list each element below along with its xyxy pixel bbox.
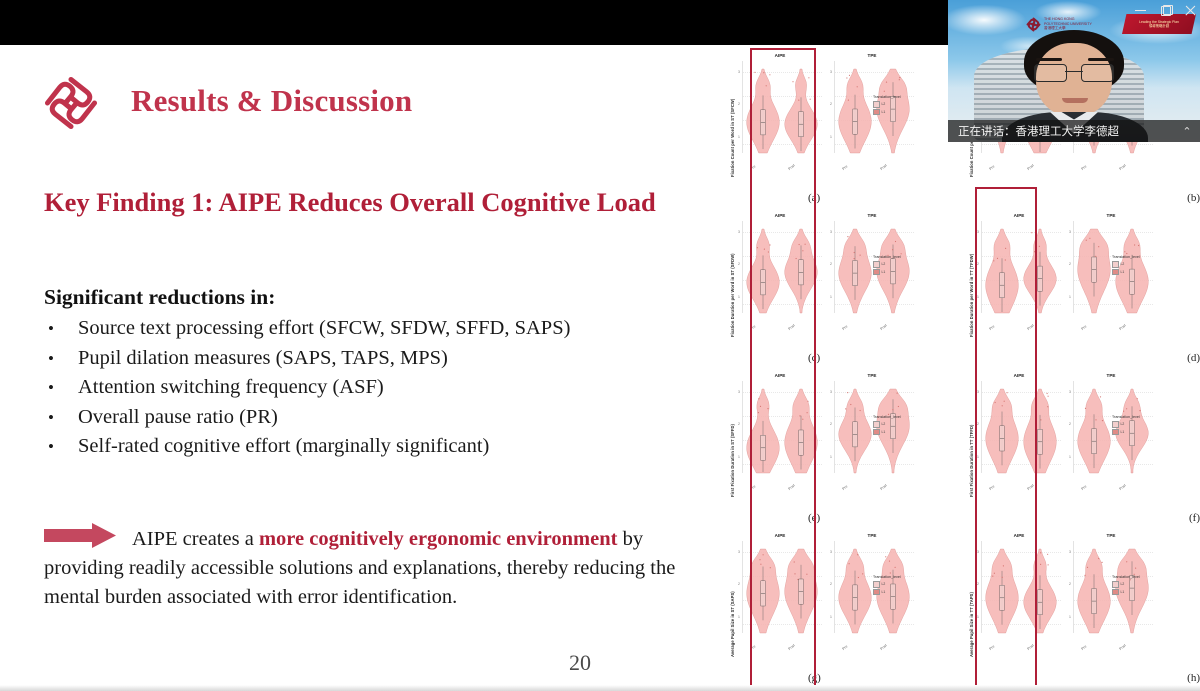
facet-title: AIPE [736, 53, 824, 58]
violin-shape [985, 229, 1019, 313]
legend-item: L1 [873, 269, 913, 276]
subfigure-label: (f) [961, 512, 1200, 524]
y-axis-tick: 1 [830, 615, 832, 619]
legend-swatch [1112, 269, 1119, 276]
y-axis-tick: 3 [977, 550, 979, 554]
x-axis-tick: Pre [1081, 324, 1088, 331]
active-speaker-bar[interactable]: 正在讲话：香港理工大学李德超 ⌃ [948, 120, 1200, 142]
legend-swatch [1112, 261, 1119, 268]
x-axis-tick: Pre [842, 484, 849, 491]
facet-aipe: AIPE321 Pre Post [975, 371, 1063, 495]
x-axis-tick: Pre [750, 164, 757, 171]
list-item: • Overall pause ratio (PR) [44, 403, 734, 433]
legend-swatch [1112, 581, 1119, 588]
y-axis-tick: 3 [738, 550, 740, 554]
y-axis-tick: 3 [830, 550, 832, 554]
plot-area: AIPE321 Pre PostTPE321 Pre PostTranslati… [736, 211, 916, 335]
legend-label: L2 [1121, 422, 1125, 426]
list-item-label: Self-rated cognitive effort (marginally … [78, 432, 734, 462]
violin-shape [838, 549, 872, 633]
legend-label: L1 [1121, 590, 1125, 594]
x-axis-tick: Post [880, 323, 888, 331]
y-axis-tick: 3 [738, 390, 740, 394]
legend-title: Translation_level [873, 575, 913, 579]
y-axis-tick: 1 [738, 135, 740, 139]
x-axis-tick: Post [1027, 323, 1035, 331]
y-axis-tick: 1 [1069, 295, 1071, 299]
x-axis-tick: Pre [989, 164, 996, 171]
legend-title: Translation_level [873, 415, 913, 419]
y-axis-tick: 3 [977, 230, 979, 234]
bullet-marker-icon: • [44, 406, 78, 430]
y-axis-tick: 2 [830, 422, 832, 426]
legend-title: Translation_level [1112, 575, 1152, 579]
legend-swatch [873, 269, 880, 276]
x-axis-tick: Post [880, 483, 888, 491]
violin-shape [784, 229, 818, 313]
violin-panel: Fixation Count per Word in ST (SFCW)AIPE… [722, 45, 961, 205]
violin-shape [838, 389, 872, 473]
x-axis-tick: Pre [750, 644, 757, 651]
violin-shape [838, 69, 872, 153]
x-axis-tick: Post [880, 163, 888, 171]
y-axis-tick: 3 [830, 70, 832, 74]
bullet-marker-icon: • [44, 347, 78, 371]
violin-shape [1023, 549, 1057, 633]
avatar-brow-left [1036, 58, 1062, 61]
y-axis-tick: 1 [977, 455, 979, 459]
facet-title: TPE [828, 373, 916, 378]
chart-legend: Translation_levelL2L1 [1112, 255, 1152, 276]
y-axis-tick: 2 [830, 582, 832, 586]
letterbox-bottom-bar [0, 685, 1200, 691]
chart-legend: Translation_levelL2L1 [873, 255, 913, 276]
y-axis-tick: 1 [977, 615, 979, 619]
chart-legend: Translation_levelL2L1 [1112, 415, 1152, 436]
bullet-marker-icon: • [44, 317, 78, 341]
y-axis-tick: 1 [738, 455, 740, 459]
x-axis-tick: Pre [989, 484, 996, 491]
y-axis-tick: 2 [1069, 422, 1071, 426]
polyu-knot-logo [42, 75, 100, 131]
legend-item: L2 [1112, 421, 1152, 428]
violin-shape [1077, 229, 1111, 313]
y-axis-label: Fixation Duration per Word in ST (SFDW) [730, 219, 735, 337]
y-axis-tick: 2 [738, 582, 740, 586]
legend-item: L2 [873, 421, 913, 428]
violin-shape [746, 69, 780, 153]
chart-legend: Translation_levelL2L1 [873, 95, 913, 116]
legend-swatch [1112, 429, 1119, 436]
x-axis-tick: Post [1119, 163, 1127, 171]
violin-shape [1023, 389, 1057, 473]
legend-item: L1 [873, 429, 913, 436]
y-axis-tick: 3 [830, 230, 832, 234]
restore-icon[interactable] [1160, 5, 1171, 16]
facet-aipe: AIPE321 Pre Post [736, 51, 824, 175]
video-participant-tile[interactable]: THE HONG KONGPOLYTECHNIC UNIVERSITY香港理工大… [948, 0, 1200, 142]
avatar-lens-left [1034, 64, 1067, 82]
legend-title: Translation_level [1112, 255, 1152, 259]
legend-title: Translation_level [1112, 415, 1152, 419]
x-axis-tick: Pre [1081, 484, 1088, 491]
plot-area: AIPE321 Pre PostTPE321 Pre PostTranslati… [975, 531, 1155, 655]
facet-aipe: AIPE321 Pre Post [736, 531, 824, 655]
conclusion-part-1: AIPE creates a [132, 528, 259, 550]
x-axis-tick: Pre [989, 644, 996, 651]
y-axis-tick: 2 [738, 262, 740, 266]
facet-title: AIPE [736, 373, 824, 378]
page-title: Results & Discussion [131, 83, 412, 119]
facet-title: AIPE [736, 533, 824, 538]
list-item-label: Overall pause ratio (PR) [78, 403, 734, 433]
subfigure-label: (d) [961, 352, 1200, 364]
y-axis-tick: 3 [1069, 550, 1071, 554]
legend-label: L1 [882, 590, 886, 594]
legend-label: L2 [882, 102, 886, 106]
facet-title: AIPE [975, 373, 1063, 378]
legend-swatch [873, 429, 880, 436]
violin-shape [985, 549, 1019, 633]
y-axis-tick: 1 [1069, 455, 1071, 459]
conclusion-paragraph: AIPE creates a more cognitively ergonomi… [44, 523, 724, 612]
y-axis-label: Fixation Count per Word in ST (SFCW) [730, 59, 735, 177]
y-axis-label: Average Pupil Size in TT (TAPS) [969, 539, 974, 657]
legend-label: L1 [1121, 270, 1125, 274]
red-right-arrow-icon [44, 523, 116, 548]
violin-panel: Average Pupil Size in ST (SAPS)AIPE321 P… [722, 525, 961, 685]
list-item-label: Attention switching frequency (ASF) [78, 373, 734, 403]
x-axis-tick: Post [1027, 163, 1035, 171]
y-axis-tick: 1 [977, 295, 979, 299]
facet-aipe: AIPE321 Pre Post [736, 371, 824, 495]
chevron-up-icon[interactable]: ⌃ [1174, 125, 1200, 138]
violin-panel: Fixation Duration per Word in ST (SFDW)A… [722, 205, 961, 365]
list-item: • Pupil dilation measures (SAPS, TAPS, M… [44, 344, 734, 374]
facet-title: TPE [1067, 533, 1155, 538]
legend-label: L2 [1121, 582, 1125, 586]
legend-item: L2 [873, 261, 913, 268]
legend-label: L1 [1121, 430, 1125, 434]
y-axis-tick: 1 [830, 135, 832, 139]
y-axis-tick: 2 [977, 422, 979, 426]
violin-shape [746, 389, 780, 473]
plot-area: AIPE321 Pre PostTPE321 Pre PostTranslati… [736, 371, 916, 495]
legend-item: L2 [1112, 581, 1152, 588]
x-axis-tick: Post [1027, 483, 1035, 491]
x-axis-tick: Pre [842, 324, 849, 331]
y-axis-tick: 3 [977, 390, 979, 394]
facet-aipe: AIPE321 Pre Post [975, 531, 1063, 655]
legend-label: L1 [882, 110, 886, 114]
window-controls[interactable] [1135, 2, 1196, 18]
facet-title: AIPE [975, 213, 1063, 218]
y-axis-label: Fixation Duration per Word in TT (TFDW) [969, 219, 974, 337]
plot-area: AIPE321 Pre PostTPE321 Pre PostTranslati… [975, 371, 1155, 495]
legend-item: L2 [873, 581, 913, 588]
conclusion-highlight: more cognitively ergonomic environment [259, 528, 618, 550]
x-axis-tick: Pre [1081, 644, 1088, 651]
x-axis-tick: Post [1119, 323, 1127, 331]
avatar-glasses [1034, 64, 1114, 80]
facet-title: TPE [828, 533, 916, 538]
x-axis-tick: Post [788, 163, 796, 171]
plot-area: AIPE321 Pre PostTPE321 Pre PostTranslati… [736, 531, 916, 655]
legend-swatch [1112, 421, 1119, 428]
list-item: • Source text processing effort (SFCW, S… [44, 314, 734, 344]
legend-label: L2 [882, 582, 886, 586]
violin-shape [746, 549, 780, 633]
y-axis-tick: 1 [830, 295, 832, 299]
y-axis-tick: 1 [738, 615, 740, 619]
legend-item: L1 [873, 589, 913, 596]
facet-title: TPE [1067, 213, 1155, 218]
y-axis-tick: 3 [738, 230, 740, 234]
violin-shape [784, 549, 818, 633]
x-axis-tick: Post [1027, 643, 1035, 651]
x-axis-tick: Post [788, 323, 796, 331]
y-axis-label: First Fixation Duration in TT (TFFD) [969, 379, 974, 497]
legend-label: L2 [882, 422, 886, 426]
violin-panel: First Fixation Duration in ST (SFFD)AIPE… [722, 365, 961, 525]
legend-item: L1 [1112, 269, 1152, 276]
lead-in-text: Significant reductions in: [44, 285, 734, 310]
subfigure-label: (h) [961, 672, 1200, 684]
y-axis-tick: 2 [1069, 582, 1071, 586]
bullet-marker-icon: • [44, 435, 78, 459]
facet-title: TPE [828, 53, 916, 58]
key-finding-heading: Key Finding 1: AIPE Reduces Overall Cogn… [44, 187, 656, 218]
chart-legend: Translation_levelL2L1 [873, 575, 913, 596]
facet-title: AIPE [975, 533, 1063, 538]
chart-legend: Translation_levelL2L1 [1112, 575, 1152, 596]
legend-title: Translation_level [873, 255, 913, 259]
x-axis-tick: Post [880, 643, 888, 651]
x-axis-tick: Pre [1081, 164, 1088, 171]
y-axis-tick: 2 [977, 262, 979, 266]
y-axis-tick: 1 [738, 295, 740, 299]
violin-shape [985, 389, 1019, 473]
legend-label: L2 [882, 262, 886, 266]
list-item: • Attention switching frequency (ASF) [44, 373, 734, 403]
violin-panel: Average Pupil Size in TT (TAPS)AIPE321 P… [961, 525, 1200, 685]
legend-swatch [873, 581, 880, 588]
facet-title: TPE [828, 213, 916, 218]
x-axis-tick: Post [788, 483, 796, 491]
bullet-marker-icon: • [44, 376, 78, 400]
x-axis-tick: Pre [989, 324, 996, 331]
legend-item: L1 [1112, 429, 1152, 436]
y-axis-tick: 2 [830, 262, 832, 266]
violin-shape [1077, 389, 1111, 473]
plot-area: AIPE321 Pre PostTPE321 Pre PostTranslati… [736, 51, 916, 175]
x-axis-tick: Post [788, 643, 796, 651]
facet-title: AIPE [736, 213, 824, 218]
violin-shape [746, 229, 780, 313]
violin-shape [1023, 229, 1057, 313]
violin-shape [838, 229, 872, 313]
active-speaker-label: 正在讲话：香港理工大学李德超 [948, 123, 1174, 139]
y-axis-tick: 2 [830, 102, 832, 106]
avatar-mouth [1062, 98, 1088, 103]
plot-area: AIPE321 Pre PostTPE321 Pre PostTranslati… [975, 211, 1155, 335]
x-axis-tick: Post [1119, 483, 1127, 491]
chart-legend: Translation_levelL2L1 [873, 415, 913, 436]
violin-panel: Fixation Duration per Word in TT (TFDW)A… [961, 205, 1200, 365]
facet-title: TPE [1067, 373, 1155, 378]
legend-item: L2 [873, 101, 913, 108]
y-axis-tick: 2 [738, 102, 740, 106]
avatar-lens-right [1081, 64, 1114, 82]
minimize-icon[interactable] [1135, 5, 1146, 16]
y-axis-tick: 2 [738, 422, 740, 426]
y-axis-tick: 1 [830, 455, 832, 459]
list-item: • Self-rated cognitive effort (marginall… [44, 432, 734, 462]
figure-column-left: Fixation Count per Word in ST (SFCW)AIPE… [722, 45, 961, 685]
list-item-label: Pupil dilation measures (SAPS, TAPS, MPS… [78, 344, 734, 374]
x-axis-tick: Pre [750, 484, 757, 491]
y-axis-tick: 3 [830, 390, 832, 394]
body-content: Significant reductions in: • Source text… [44, 285, 734, 462]
legend-item: L1 [873, 109, 913, 116]
legend-swatch [873, 589, 880, 596]
violin-shape [784, 389, 818, 473]
legend-label: L1 [882, 270, 886, 274]
event-banner-line2: 領導策略計劃 [1149, 24, 1169, 28]
legend-swatch [873, 101, 880, 108]
legend-label: L2 [1121, 262, 1125, 266]
violin-shape [784, 69, 818, 153]
y-axis-tick: 1 [1069, 615, 1071, 619]
avatar-brow-right [1088, 58, 1114, 61]
x-axis-tick: Pre [750, 324, 757, 331]
list-item-label: Source text processing effort (SFCW, SFD… [78, 314, 734, 344]
y-axis-tick: 2 [977, 582, 979, 586]
legend-swatch [873, 421, 880, 428]
facet-aipe: AIPE321 Pre Post [736, 211, 824, 335]
facet-aipe: AIPE321 Pre Post [975, 211, 1063, 335]
close-icon[interactable] [1185, 5, 1196, 16]
legend-swatch [1112, 589, 1119, 596]
x-axis-tick: Pre [842, 164, 849, 171]
legend-swatch [873, 109, 880, 116]
y-axis-tick: 3 [1069, 390, 1071, 394]
y-axis-label: Average Pupil Size in ST (SAPS) [730, 539, 735, 657]
violin-panel: First Fixation Duration in TT (TFFD)AIPE… [961, 365, 1200, 525]
subfigure-label: (b) [961, 192, 1200, 204]
violin-shape [1077, 549, 1111, 633]
x-axis-tick: Pre [842, 644, 849, 651]
y-axis-tick: 3 [738, 70, 740, 74]
legend-item: L1 [1112, 589, 1152, 596]
y-axis-tick: 3 [1069, 230, 1071, 234]
x-axis-tick: Post [1119, 643, 1127, 651]
legend-item: L2 [1112, 261, 1152, 268]
legend-title: Translation_level [873, 95, 913, 99]
y-axis-label: First Fixation Duration in ST (SFFD) [730, 379, 735, 497]
legend-label: L1 [882, 430, 886, 434]
legend-swatch [873, 261, 880, 268]
y-axis-tick: 2 [1069, 262, 1071, 266]
